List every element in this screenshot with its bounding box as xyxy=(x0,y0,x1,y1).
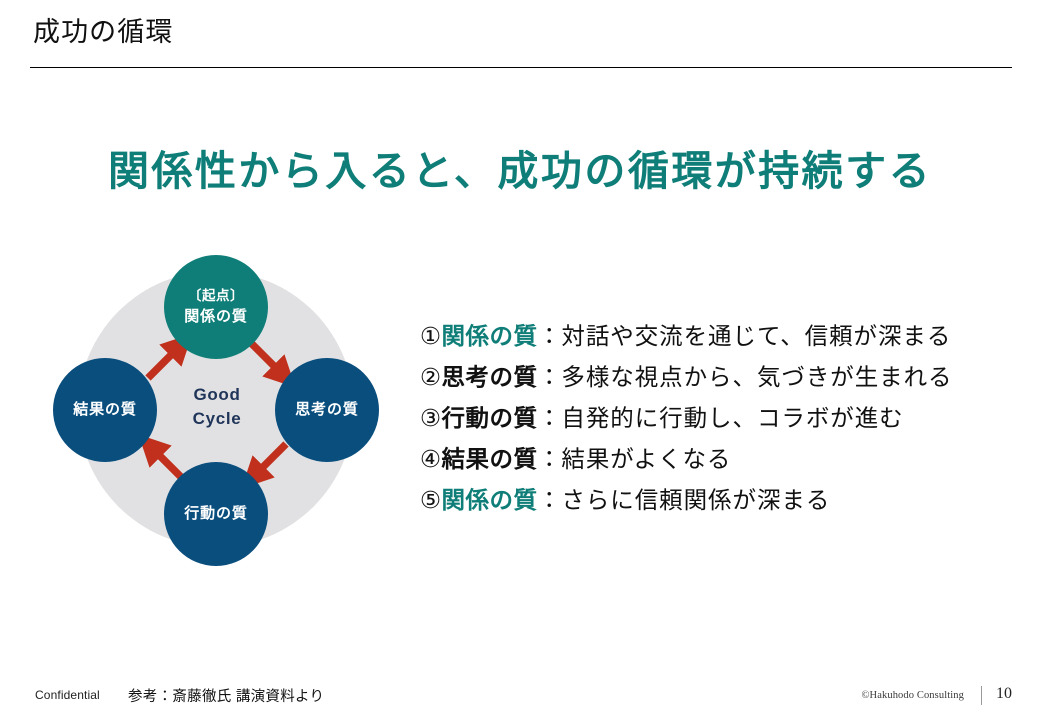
page-number: 10 xyxy=(996,685,1012,703)
main-heading: 関係性から入ると、成功の循環が持続する xyxy=(0,148,1040,195)
list-item-separator: ： xyxy=(537,487,561,513)
list-item-number: ④ xyxy=(420,446,442,472)
cycle-node-thinking-label: 思考の質 xyxy=(295,399,359,421)
list-item-description: 多様な視点から、気づきが生まれる xyxy=(561,364,952,390)
list-item-separator: ： xyxy=(537,323,561,349)
cycle-node-thinking[interactable]: 思考の質 xyxy=(275,358,379,462)
cycle-node-action-label: 行動の質 xyxy=(184,503,248,525)
list-item-separator: ： xyxy=(537,364,561,390)
slide-footer: Confidential 参考：斎藤徹氏 講演資料より ©Hakuhodo Co… xyxy=(0,674,1040,720)
source-note: 参考：斎藤徹氏 講演資料より xyxy=(128,685,324,706)
cycle-node-relationship[interactable]: 〔起点〕 関係の質 xyxy=(164,255,268,359)
list-item: ③行動の質：自発的に行動し、コラボが進む xyxy=(420,398,1020,439)
list-item-description: 結果がよくなる xyxy=(561,446,731,472)
list-item-label: 結果の質 xyxy=(442,446,538,472)
arrow-relationship-to-thinking xyxy=(251,343,286,378)
list-item-description: 自発的に行動し、コラボが進む xyxy=(561,405,903,431)
footer-divider xyxy=(981,686,982,705)
list-item-number: ② xyxy=(420,364,442,390)
cycle-node-relationship-sublabel: 〔起点〕 xyxy=(188,286,244,306)
slide-header: 成功の循環 xyxy=(0,0,1040,72)
list-item-separator: ： xyxy=(537,405,561,431)
list-item-number: ① xyxy=(420,323,442,349)
list-item-label: 関係の質 xyxy=(442,323,538,349)
cycle-node-result[interactable]: 結果の質 xyxy=(53,358,157,462)
arrow-thinking-to-action xyxy=(251,444,286,479)
list-item: ⑤関係の質：さらに信頼関係が深まる xyxy=(420,480,1020,521)
list-item: ①関係の質：対話や交流を通じて、信頼が深まる xyxy=(420,316,1020,357)
list-item-description: さらに信頼関係が深まる xyxy=(561,487,830,513)
list-item-label: 関係の質 xyxy=(442,487,538,513)
cycle-center-line2: Cycle xyxy=(167,407,267,431)
list-item-separator: ： xyxy=(537,446,561,472)
list-item-label: 行動の質 xyxy=(442,405,538,431)
cycle-node-action[interactable]: 行動の質 xyxy=(164,462,268,566)
confidential-label: Confidential xyxy=(35,688,100,702)
list-item: ④結果の質：結果がよくなる xyxy=(420,439,1020,480)
list-item-label: 思考の質 xyxy=(442,364,538,390)
page-title: 成功の循環 xyxy=(33,19,173,46)
cycle-center-label: Good Cycle xyxy=(167,383,267,431)
cycle-node-relationship-label: 関係の質 xyxy=(184,306,248,328)
cycle-node-result-label: 結果の質 xyxy=(73,399,137,421)
explanation-list: ①関係の質：対話や交流を通じて、信頼が深まる ②思考の質：多様な視点から、気づき… xyxy=(420,316,1020,521)
cycle-center-line1: Good xyxy=(167,383,267,407)
list-item-number: ③ xyxy=(420,405,442,431)
header-divider xyxy=(30,67,1012,68)
copyright-label: ©Hakuhodo Consulting xyxy=(861,690,964,701)
arrow-result-to-relationship xyxy=(148,343,183,378)
slide: 成功の循環 関係性から入ると、成功の循環が持続する Good Cycle xyxy=(0,0,1040,720)
list-item-number: ⑤ xyxy=(420,487,442,513)
list-item-description: 対話や交流を通じて、信頼が深まる xyxy=(561,323,951,349)
good-cycle-diagram: Good Cycle 〔起点〕 関係の質 思考の質 行動の質 結果の質 xyxy=(62,255,372,565)
arrow-action-to-result xyxy=(148,444,183,479)
list-item: ②思考の質：多様な視点から、気づきが生まれる xyxy=(420,357,1020,398)
